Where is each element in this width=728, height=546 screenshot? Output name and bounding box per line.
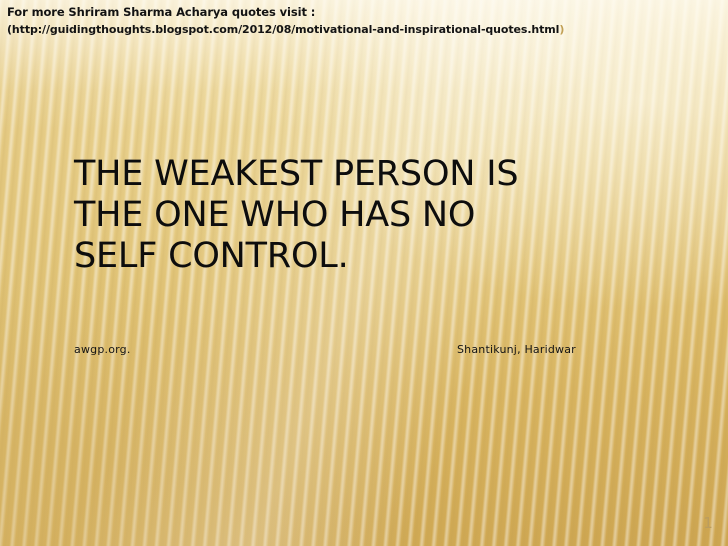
quote-title: THE WEAKEST PERSON IS THE ONE WHO HAS NO…: [74, 154, 674, 277]
slide-number: 1: [698, 514, 718, 532]
header-caption-line-1: For more Shriram Sharma Acharya quotes v…: [7, 3, 722, 21]
footer-source-website: awgp.org.: [74, 343, 131, 356]
header-caption-line-2: (http://guidingthoughts.blogspot.com/201…: [7, 21, 722, 39]
quote-line-3: SELF CONTROL.: [74, 236, 674, 277]
footer-source-location: Shantikunj, Haridwar: [457, 343, 576, 356]
quote-line-2: THE ONE WHO HAS NO: [74, 195, 674, 236]
quote-line-1: THE WEAKEST PERSON IS: [74, 154, 674, 195]
source-url-text: (http://guidingthoughts.blogspot.com/201…: [7, 23, 559, 36]
header-caption: For more Shriram Sharma Acharya quotes v…: [7, 3, 722, 39]
slide-canvas: For more Shriram Sharma Acharya quotes v…: [0, 0, 728, 546]
closing-paren: ): [559, 23, 564, 36]
